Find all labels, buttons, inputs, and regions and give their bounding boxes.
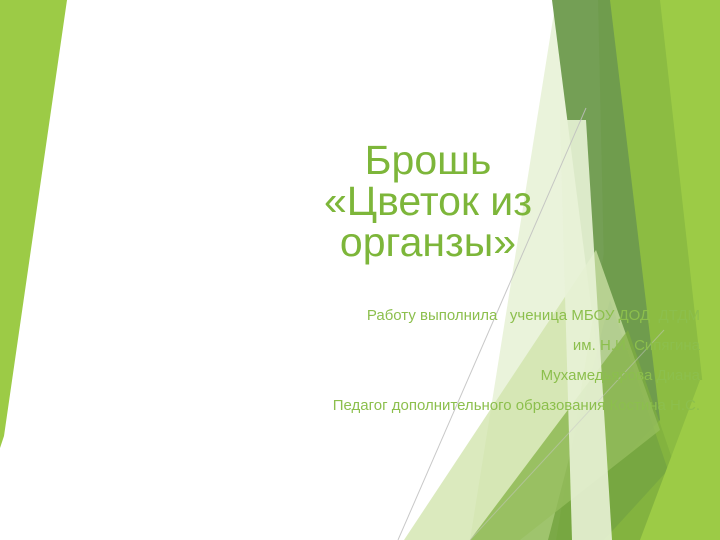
- subtitle-line-institution-name: им. Н.И. Сипягина: [240, 338, 700, 353]
- title-line-1: Брошь: [286, 140, 570, 181]
- subtitle-line-author-institution: Работу выполнила ученица МБОУ ДОД ДТДМ: [240, 308, 700, 323]
- slide-text-layer: Брошь «Цветок из органзы» Работу выполни…: [0, 0, 720, 540]
- slide-subtitle[interactable]: Работу выполнила ученица МБОУ ДОД ДТДМ и…: [240, 308, 700, 413]
- subtitle-line-teacher: Педагог дополнительного образования Кост…: [240, 398, 700, 413]
- slide-title[interactable]: Брошь «Цветок из органзы»: [286, 140, 570, 263]
- presentation-slide: Брошь «Цветок из органзы» Работу выполни…: [0, 0, 720, 540]
- subtitle-line-student-name: Мухамедьярова Диана: [240, 368, 700, 383]
- title-line-2: «Цветок из: [286, 181, 570, 222]
- title-line-3: органзы»: [286, 222, 570, 263]
